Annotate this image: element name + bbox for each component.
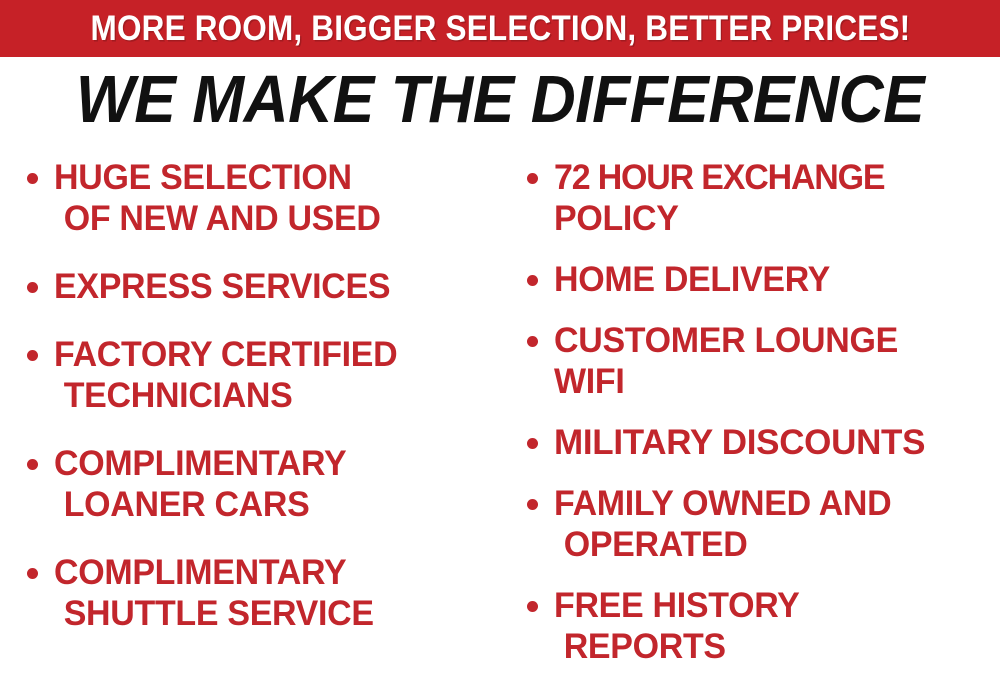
list-item: COMPLIMENTARY SHUTTLE SERVICE [14, 552, 500, 634]
benefits-columns: HUGE SELECTION OF NEW AND USED EXPRESS S… [0, 157, 1000, 694]
list-item: HUGE SELECTION OF NEW AND USED [14, 157, 500, 239]
list-item-text: FAMILY OWNED AND OPERATED [554, 483, 1000, 565]
bullet-dot-icon [527, 601, 538, 612]
bullet-dot-icon [27, 568, 38, 579]
list-item: CUSTOMER LOUNGE WIFI [514, 320, 1000, 402]
list-item-line: WIFI [554, 361, 987, 402]
list-item: EXPRESS SERVICES [14, 266, 500, 307]
list-item-line: EXPRESS SERVICES [54, 266, 487, 307]
list-item-line: FREE HISTORY [554, 585, 987, 626]
bullet-dot-icon [27, 459, 38, 470]
list-item-line: TECHNICIANS [54, 375, 487, 416]
bullet-dot-icon [27, 350, 38, 361]
list-item: FREE HISTORY REPORTS [514, 585, 1000, 667]
bullet-dot-icon [527, 336, 538, 347]
bullet-dot-icon [527, 499, 538, 510]
list-item-line: FACTORY CERTIFIED [54, 334, 487, 375]
list-item: COMPLIMENTARY LOANER CARS [14, 443, 500, 525]
list-item-text: 72 HOUR EXCHANGE POLICY [554, 157, 1000, 239]
list-item: FAMILY OWNED AND OPERATED [514, 483, 1000, 565]
list-item-text: EXPRESS SERVICES [54, 266, 500, 307]
list-item-line: FAMILY OWNED AND [554, 483, 987, 524]
headline-text: WE MAKE THE DIFFERENCE [76, 66, 924, 134]
list-item: MILITARY DISCOUNTS [514, 422, 1000, 463]
list-item-line: COMPLIMENTARY [54, 552, 487, 593]
list-item: 72 HOUR EXCHANGE POLICY [514, 157, 1000, 239]
list-item-line: OF NEW AND USED [54, 198, 487, 239]
list-item-line: SHUTTLE SERVICE [54, 593, 487, 634]
list-item-text: FACTORY CERTIFIED TECHNICIANS [54, 334, 500, 416]
list-item-line: COMPLIMENTARY [54, 443, 487, 484]
bullet-dot-icon [27, 282, 38, 293]
bullet-dot-icon [27, 173, 38, 184]
benefits-column-right: 72 HOUR EXCHANGE POLICY HOME DELIVERY CU… [514, 157, 1000, 694]
list-item-text: HOME DELIVERY [554, 259, 1000, 300]
list-item-line: LOANER CARS [54, 484, 487, 525]
list-item-text: CUSTOMER LOUNGE WIFI [554, 320, 1000, 402]
list-item-line: OPERATED [554, 524, 987, 565]
banner-headline-text: MORE ROOM, BIGGER SELECTION, BETTER PRIC… [90, 11, 910, 46]
list-item-line: HUGE SELECTION [54, 157, 487, 198]
benefits-column-left: HUGE SELECTION OF NEW AND USED EXPRESS S… [14, 157, 500, 694]
list-item-line: POLICY [554, 198, 987, 239]
list-item-text: MILITARY DISCOUNTS [554, 422, 1000, 463]
list-item-line: CUSTOMER LOUNGE [554, 320, 987, 361]
list-item: FACTORY CERTIFIED TECHNICIANS [14, 334, 500, 416]
bullet-dot-icon [527, 438, 538, 449]
list-item-text: HUGE SELECTION OF NEW AND USED [54, 157, 500, 239]
list-item-text: FREE HISTORY REPORTS [554, 585, 1000, 667]
promo-poster: MORE ROOM, BIGGER SELECTION, BETTER PRIC… [0, 0, 1000, 694]
list-item-text: COMPLIMENTARY LOANER CARS [54, 443, 500, 525]
bullet-dot-icon [527, 275, 538, 286]
list-item-text: COMPLIMENTARY SHUTTLE SERVICE [54, 552, 500, 634]
top-banner: MORE ROOM, BIGGER SELECTION, BETTER PRIC… [0, 0, 1000, 57]
list-item-line: HOME DELIVERY [554, 259, 987, 300]
list-item-line: 72 HOUR EXCHANGE [554, 157, 987, 198]
bullet-dot-icon [527, 173, 538, 184]
list-item: HOME DELIVERY [514, 259, 1000, 300]
main-headline: WE MAKE THE DIFFERENCE [0, 66, 1000, 134]
list-item-line: MILITARY DISCOUNTS [554, 422, 1000, 463]
list-item-line: REPORTS [554, 626, 987, 667]
